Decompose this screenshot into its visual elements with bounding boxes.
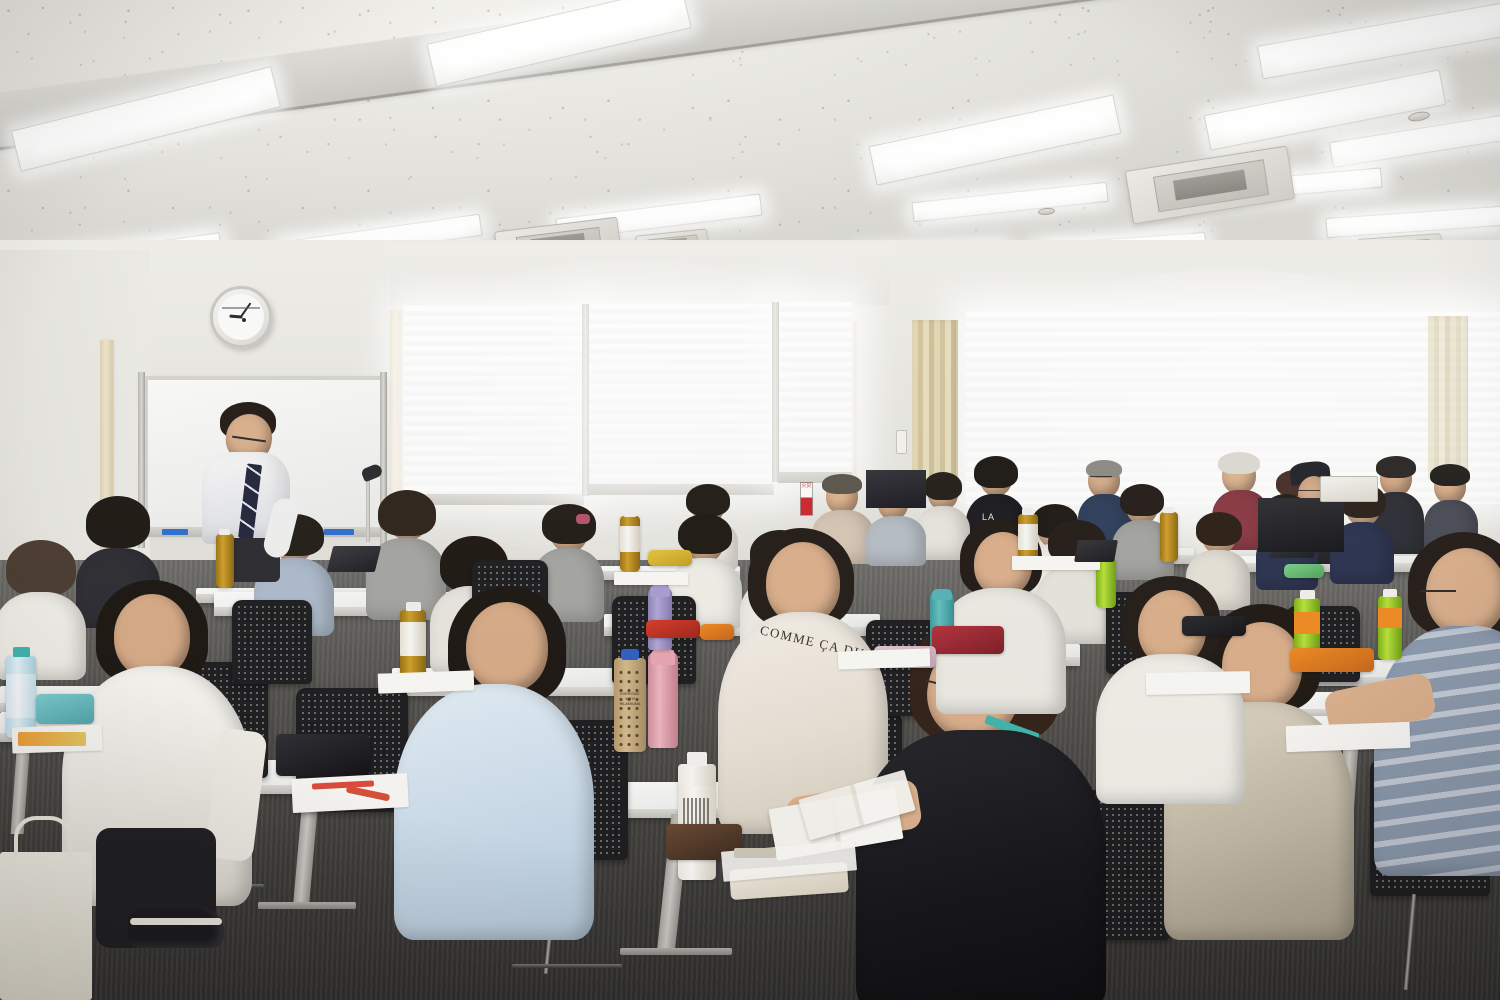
pet-bottle-coffee[interactable]	[678, 764, 716, 880]
classroom-photo: 火災	[0, 0, 1500, 1000]
pencil-case[interactable]	[932, 626, 1004, 654]
chair-rail	[512, 964, 622, 968]
document-sheet[interactable]	[838, 648, 931, 669]
instructor	[198, 402, 294, 576]
white-basket[interactable]	[1320, 476, 1378, 502]
window-blind-panel	[404, 306, 584, 496]
pink-thermos[interactable]	[648, 652, 678, 748]
pouch[interactable]	[648, 550, 692, 566]
laptop[interactable]	[1074, 540, 1118, 562]
orange-folder[interactable]	[700, 624, 734, 640]
emergency-sign-text: 火災	[801, 483, 811, 489]
pencil-case[interactable]	[276, 734, 370, 776]
orange-folder[interactable]	[1290, 648, 1374, 672]
rilakkuma-tumbler-text: EVERYDAY WITH RILAKKUMA	[616, 692, 644, 707]
storage-cabinet	[866, 470, 926, 508]
storage-cabinet	[1258, 498, 1344, 552]
table-foot	[620, 948, 732, 955]
pouch[interactable]	[1284, 564, 1324, 578]
rilakkuma-tumbler[interactable]: EVERYDAY WITH RILAKKUMA	[614, 658, 646, 752]
document-sheet[interactable]	[378, 670, 475, 693]
shoe-sole	[130, 918, 222, 925]
red-folder[interactable]	[646, 620, 700, 638]
attendee-center-white	[936, 520, 1066, 700]
attendee-striped-shirt	[1374, 532, 1500, 872]
pouch[interactable]	[36, 694, 94, 724]
pet-bottle-green-tea[interactable]	[400, 610, 426, 680]
hair-clip	[576, 514, 590, 524]
pen[interactable]	[734, 848, 776, 858]
window-mullion	[582, 304, 589, 496]
window-blind-panel	[778, 302, 852, 474]
window-mullion	[772, 302, 779, 482]
whiteboard-marker[interactable]	[162, 529, 188, 535]
laptop[interactable]	[327, 546, 381, 572]
glasses-icon	[1420, 590, 1456, 593]
pencil-case[interactable]	[1182, 616, 1246, 636]
table-foot	[258, 902, 356, 909]
purple-thermos[interactable]	[648, 588, 672, 650]
pet-bottle-lime[interactable]	[1378, 596, 1402, 660]
wall-soffit	[390, 245, 890, 305]
tote-bag-handle	[14, 816, 72, 856]
wall-clock	[210, 286, 272, 348]
wall-switch-plate[interactable]	[896, 430, 907, 454]
pet-bottle-water[interactable]	[6, 656, 36, 738]
window-blind-panel	[588, 304, 774, 486]
curtain	[1428, 316, 1468, 478]
wood-trim-strip	[390, 310, 401, 520]
document-sheet[interactable]	[614, 572, 688, 585]
pet-bottle-green-tea[interactable]	[216, 534, 234, 588]
pet-bottle-green-tea[interactable]	[1160, 512, 1178, 562]
document-sheet[interactable]	[1286, 722, 1411, 752]
pet-bottle-green-tea[interactable]	[620, 516, 640, 572]
shoe	[128, 908, 224, 948]
tote-bag[interactable]	[0, 852, 92, 1000]
orange-booklet[interactable]	[18, 732, 86, 746]
document-sheet[interactable]	[1146, 671, 1250, 695]
